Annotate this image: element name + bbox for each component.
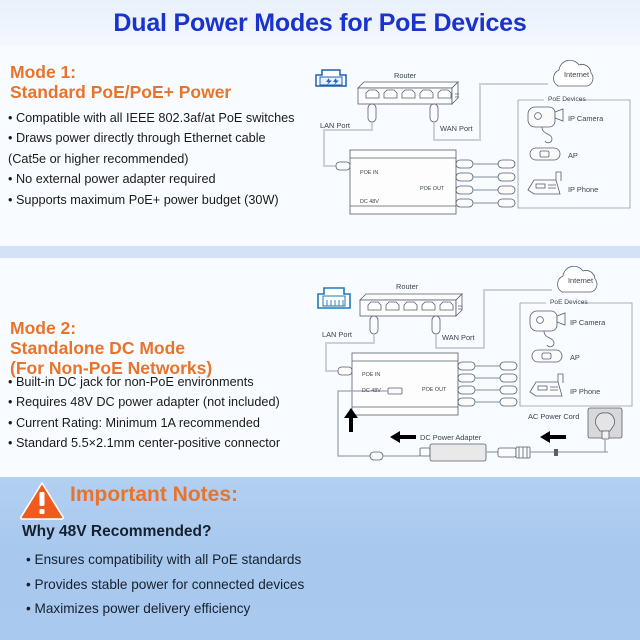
dc-in-label: DC 48V xyxy=(362,388,381,394)
list-item: • Ensures compatibility with all PoE sta… xyxy=(26,548,304,573)
internet-label: Internet xyxy=(568,276,593,285)
poe-out-label: POE OUT xyxy=(420,186,444,192)
mode1-heading-line1: Mode 1: xyxy=(10,62,231,82)
dc-power-adapter-brick xyxy=(420,444,486,461)
dc-adapter-output-connector xyxy=(498,447,530,458)
router-lan-connector xyxy=(370,316,378,334)
mode2-heading: Mode 2: Standalone DC Mode (For Non-PoE … xyxy=(10,318,212,378)
internet-label: Internet xyxy=(564,70,589,79)
mode1-heading-line2: Standard PoE/PoE+ Power xyxy=(10,82,231,102)
list-item: • Draws power directly through Ethernet … xyxy=(8,128,295,148)
poe-out-label: POE OUT xyxy=(422,387,446,393)
poe-in-label: POE IN xyxy=(362,372,380,378)
notes-bullet-list: • Ensures compatibility with all PoE sta… xyxy=(26,548,304,622)
ip-camera-icon xyxy=(530,311,565,347)
cable-tie xyxy=(554,449,558,456)
router-wan-connector xyxy=(432,316,440,334)
list-item: • Supports maximum PoE+ power budget (30… xyxy=(8,190,295,210)
mode1-bullet-list: • Compatible with all IEEE 802.3af/at Po… xyxy=(8,108,295,210)
rj45-jack-icon xyxy=(318,288,350,308)
page-title: Dual Power Modes for PoE Devices xyxy=(0,9,640,38)
lan-port-label: LAN Port xyxy=(320,121,350,130)
router-lan-connector xyxy=(368,104,376,122)
notes-title: Important Notes: xyxy=(70,483,238,507)
router-label: Router xyxy=(394,71,416,80)
mode2-diagram: Router Internet LAN Port WAN Port POE IN… xyxy=(312,268,638,473)
lan-cable-plug xyxy=(338,367,352,375)
list-item: • Standard 5.5×2.1mm center-positive con… xyxy=(8,433,280,453)
list-item: • Compatible with all IEEE 802.3af/at Po… xyxy=(8,108,295,128)
ip-phone-label: IP Phone xyxy=(568,185,598,194)
list-item: • No external power adapter required xyxy=(8,169,295,189)
router-label: Router xyxy=(396,282,418,291)
poe-out-cables xyxy=(475,366,501,402)
mode2-heading-line2: Standalone DC Mode xyxy=(10,338,212,358)
ip-camera-icon xyxy=(528,107,563,143)
power-flow-arrow-left-2 xyxy=(540,431,566,443)
list-item: • Built-in DC jack for non-PoE environme… xyxy=(8,372,280,392)
dc-in-label: DC 48V xyxy=(360,199,379,205)
mode2-bullet-list: • Built-in DC jack for non-PoE environme… xyxy=(8,372,280,454)
ap-label: AP xyxy=(570,353,580,362)
section-divider xyxy=(0,246,640,258)
list-item: • Maximizes power delivery efficiency xyxy=(26,597,304,622)
wan-port-label: WAN Port xyxy=(442,333,475,342)
ap-icon xyxy=(532,350,562,362)
lan-port-label: LAN Port xyxy=(322,330,352,339)
mode1-heading: Mode 1: Standard PoE/PoE+ Power xyxy=(10,62,231,102)
poe-devices-title: PoE Devices xyxy=(548,96,586,103)
ap-label: AP xyxy=(568,151,578,160)
dc-barrel-plug xyxy=(388,388,402,394)
ip-phone-icon xyxy=(528,172,561,194)
ip-camera-label: IP Camera xyxy=(568,114,603,123)
list-item: • Provides stable power for connected de… xyxy=(26,573,304,598)
ip-phone-icon xyxy=(530,374,563,396)
lan-cable-plug xyxy=(336,162,350,170)
mode2-heading-line1: Mode 2: xyxy=(10,318,212,338)
router-wan-connector xyxy=(430,104,438,122)
warning-triangle-icon xyxy=(20,481,64,519)
poe-out-ports xyxy=(456,160,473,207)
poe-out-cables xyxy=(473,164,499,203)
poe-injector xyxy=(352,353,458,415)
list-item: (Cat5e or higher recommended) xyxy=(8,149,295,169)
poe-devices-title: PoE Devices xyxy=(550,299,588,306)
ac-power-cord-label: AC Power Cord xyxy=(528,412,579,421)
mode1-diagram: Router Internet LAN Port WAN Port POE IN… xyxy=(312,58,638,223)
ip-phone-label: IP Phone xyxy=(570,387,600,396)
ap-icon xyxy=(530,148,560,160)
dc-power-adapter-label: DC Power Adapter xyxy=(420,433,481,442)
rj45-poe-jack-icon xyxy=(316,70,346,86)
notes-subtitle: Why 48V Recommended? xyxy=(22,523,212,541)
list-item: • Current Rating: Minimum 1A recommended xyxy=(8,413,280,433)
dc-cable-plug xyxy=(370,452,383,460)
list-item: • Requires 48V DC power adapter (not inc… xyxy=(8,392,280,412)
poe-out-ports xyxy=(458,362,475,406)
poe-out-end-plugs xyxy=(498,160,515,207)
wan-port-label: WAN Port xyxy=(440,124,473,133)
poe-in-label: POE IN xyxy=(360,170,378,176)
ip-camera-label: IP Camera xyxy=(570,318,605,327)
infographic-page: Dual Power Modes for PoE Devices Mode 1:… xyxy=(0,0,640,640)
power-flow-arrow-left-1 xyxy=(390,431,416,443)
poe-out-end-plugs xyxy=(500,362,517,406)
